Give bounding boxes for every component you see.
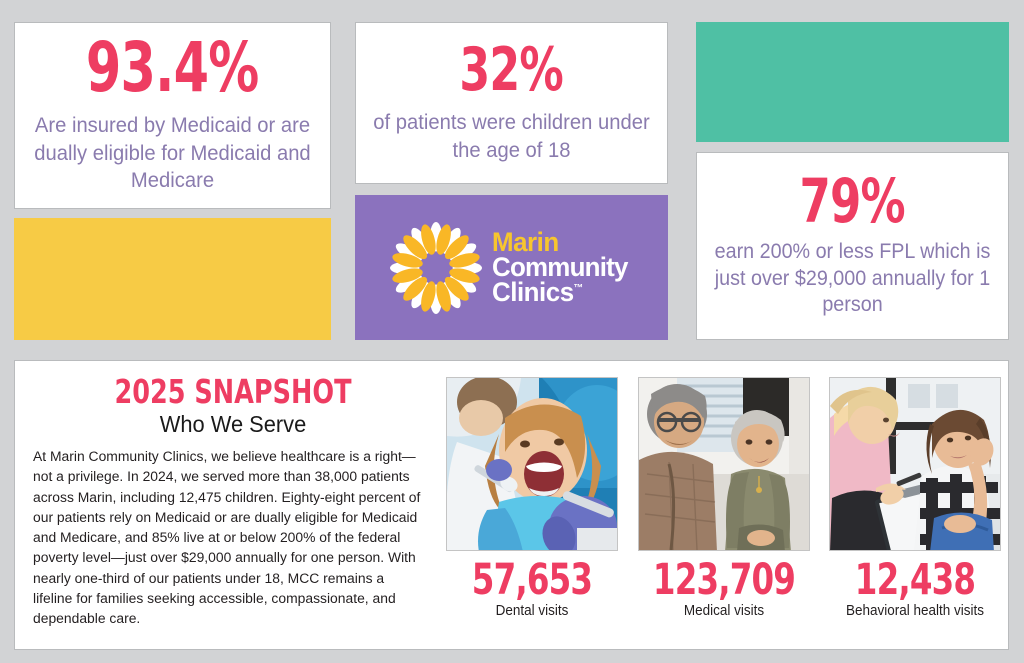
figure-number-behavioral: 12,438 xyxy=(839,559,990,602)
logo-lockup: Marin Community Clinics™ xyxy=(390,222,633,314)
stat-value-medicaid: 93.4% xyxy=(86,36,258,102)
figure-caption-medical: Medical visits xyxy=(641,603,807,619)
stat-caption-children: of patients were children under the age … xyxy=(365,109,657,164)
figure-number-dental: 57,653 xyxy=(457,559,607,602)
stat-caption-medicaid: Are insured by Medicaid or are dually el… xyxy=(24,112,320,195)
snapshot-panel: 2025 SNAPSHOT Who We Serve At Marin Comm… xyxy=(14,360,1009,650)
stat-value-children: 32% xyxy=(460,42,563,99)
stat-caption-fpl: earn 200% or less FPL which is just over… xyxy=(706,239,998,320)
figure-caption-dental: Dental visits xyxy=(449,603,615,619)
decorative-yellow-block xyxy=(14,218,331,340)
figure-medical: 123,709 Medical visits xyxy=(635,377,813,619)
figure-dental: 57,653 Dental visits xyxy=(443,377,621,619)
decorative-teal-block xyxy=(696,22,1009,142)
figure-caption-behavioral: Behavioral health visits xyxy=(831,603,998,619)
snapshot-body-text: At Marin Community Clinics, we believe h… xyxy=(33,446,427,629)
elderly-couple-clinic-photo xyxy=(638,377,810,551)
child-dental-exam-photo xyxy=(446,377,618,551)
logo-line-clinics: Clinics™ xyxy=(492,280,628,305)
sunflower-logo-icon xyxy=(390,222,482,314)
figure-number-medical: 123,709 xyxy=(649,559,799,602)
infographic-page: 93.4% Are insured by Medicaid or are dua… xyxy=(0,0,1024,663)
trademark-symbol: ™ xyxy=(573,283,582,294)
snapshot-text-column: 2025 SNAPSHOT Who We Serve At Marin Comm… xyxy=(33,375,433,628)
brand-logo-block: Marin Community Clinics™ xyxy=(355,195,668,340)
stat-value-fpl: 79% xyxy=(800,173,905,231)
stat-card-children: 32% of patients were children under the … xyxy=(355,22,668,184)
stat-card-medicaid: 93.4% Are insured by Medicaid or are dua… xyxy=(14,22,331,209)
stat-card-fpl: 79% earn 200% or less FPL which is just … xyxy=(696,152,1009,340)
logo-wordmark: Marin Community Clinics™ xyxy=(492,230,633,304)
figure-behavioral: 12,438 Behavioral health visits xyxy=(825,377,1005,619)
logo-clinics-text: Clinics xyxy=(492,277,574,307)
snapshot-title: 2025 SNAPSHOT xyxy=(61,375,405,410)
snapshot-subtitle: Who We Serve xyxy=(43,412,423,437)
counseling-session-photo xyxy=(829,377,1001,551)
